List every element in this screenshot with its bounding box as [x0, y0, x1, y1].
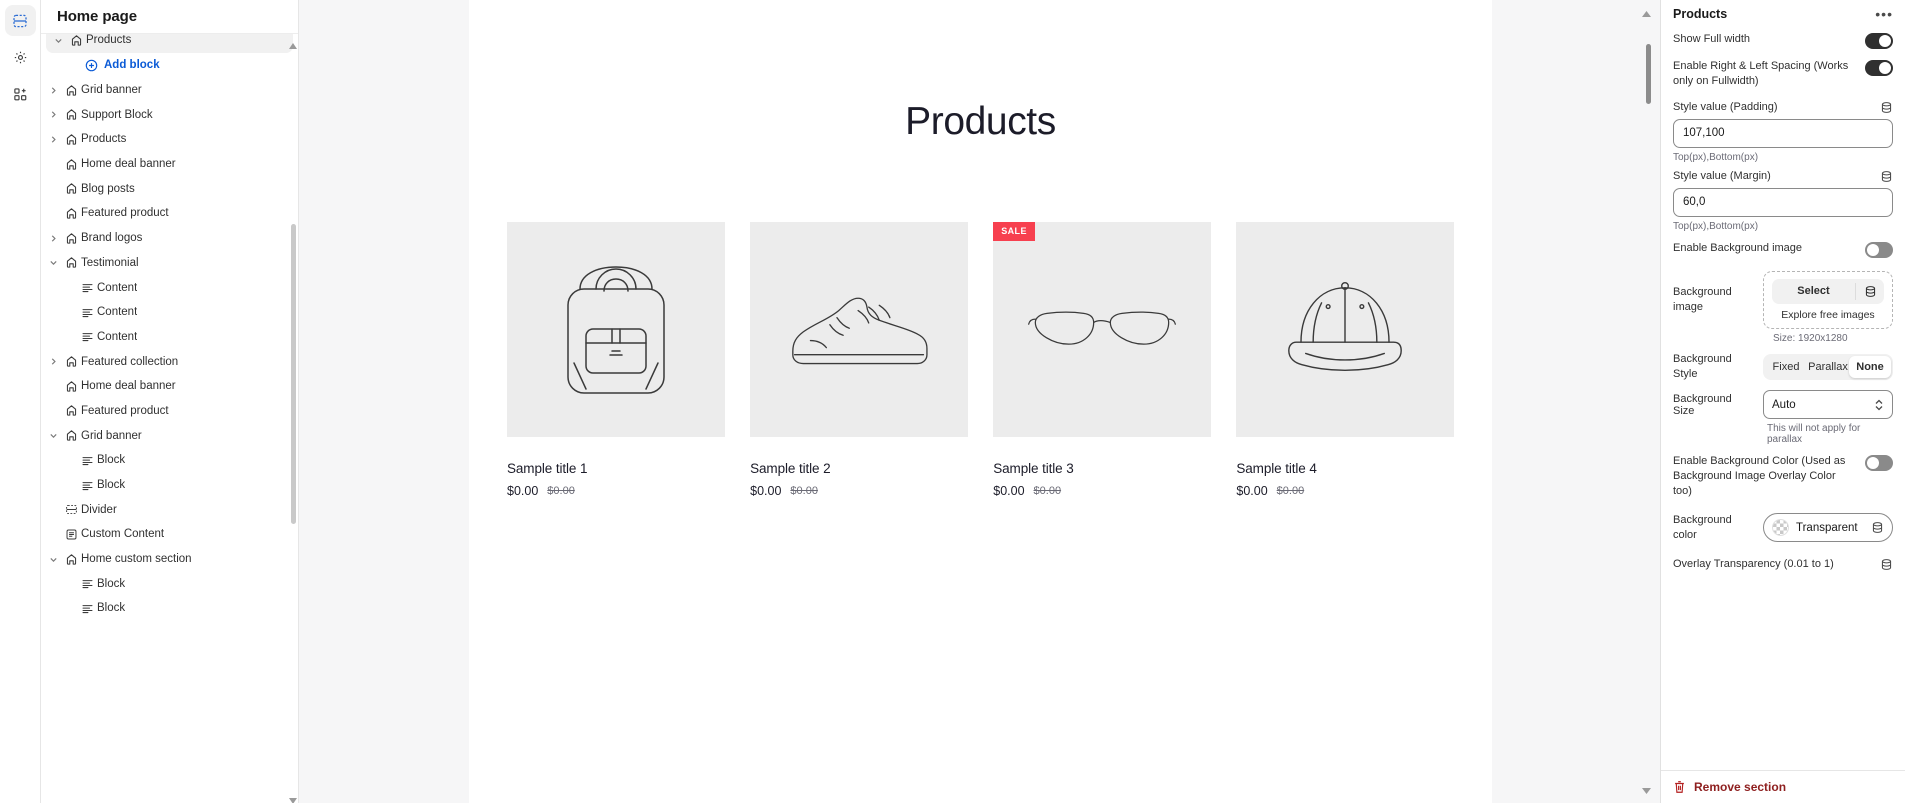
dynamic-source-icon[interactable]: [1880, 101, 1893, 114]
background-size-value: Auto: [1772, 399, 1874, 411]
margin-input-value: 60,0: [1683, 196, 1705, 208]
background-size-helper-text: This will not apply for parallax: [1661, 419, 1905, 445]
section-home-icon: [61, 133, 81, 146]
chevron-down-icon[interactable]: [45, 258, 61, 267]
product-price-row: $0.00$0.00: [1236, 484, 1454, 498]
tree-row-content[interactable]: Content: [41, 300, 298, 325]
tree-row-label: Blog posts: [81, 183, 135, 195]
padding-helper-text: Top(px),Bottom(px): [1661, 148, 1905, 163]
tree-row-block[interactable]: Block: [41, 596, 298, 621]
padding-input-value: 107,100: [1683, 127, 1725, 139]
tree-row-label: Grid banner: [81, 430, 142, 442]
product-price-row: $0.00$0.00: [750, 484, 968, 498]
background-size-select[interactable]: Auto: [1763, 390, 1893, 419]
tree-row-content[interactable]: Content: [41, 325, 298, 350]
show-full-width-label: Show Full width: [1673, 32, 1750, 47]
enable-background-color-toggle[interactable]: [1865, 455, 1893, 471]
tree-row-block[interactable]: Block: [41, 571, 298, 596]
tree-row-label: Divider: [81, 504, 117, 516]
background-size-label: Background Size: [1673, 393, 1755, 417]
page-title: Home page: [57, 8, 137, 25]
product-price: $0.00: [507, 484, 538, 498]
section-home-icon: [61, 232, 81, 245]
inspector-header: Products •••: [1661, 0, 1905, 27]
background-image-size-note: Size: 1920x1280: [1661, 329, 1905, 344]
margin-input[interactable]: 60,0: [1673, 188, 1893, 217]
product-card[interactable]: Sample title 1$0.00$0.00: [507, 222, 725, 498]
chevron-down-icon[interactable]: [50, 36, 66, 45]
product-title: Sample title 2: [750, 461, 968, 476]
chevron-down-icon[interactable]: [45, 431, 61, 440]
product-image-placeholder[interactable]: [507, 222, 725, 437]
product-card[interactable]: Sample title 4$0.00$0.00: [1236, 222, 1454, 498]
background-style-option-parallax[interactable]: Parallax: [1807, 356, 1849, 378]
dynamic-source-icon[interactable]: [1871, 521, 1884, 534]
tree-row-featured-collection[interactable]: Featured collection: [41, 349, 298, 374]
background-style-label: Background Style: [1673, 352, 1755, 382]
product-card[interactable]: SALESample title 3$0.00$0.00: [993, 222, 1211, 498]
tree-row-brand-logos[interactable]: Brand logos: [41, 226, 298, 251]
sections-icon-button[interactable]: [5, 5, 36, 36]
product-title: Sample title 1: [507, 461, 725, 476]
tree-row-label: Home deal banner: [81, 158, 176, 170]
tree-row-custom-content[interactable]: Custom Content: [41, 522, 298, 547]
block-text-icon: [77, 577, 97, 590]
section-home-icon: [61, 553, 81, 566]
enable-right-left-spacing-row: Enable Right & Left Spacing (Works only …: [1661, 54, 1905, 94]
preview-scroll-up-arrow[interactable]: [1642, 4, 1651, 22]
tree-row-grid-banner[interactable]: Grid banner: [41, 423, 298, 448]
section-home-icon: [61, 256, 81, 269]
glasses-icon: [1027, 300, 1177, 360]
product-image-placeholder[interactable]: [1236, 222, 1454, 437]
section-home-icon: [61, 404, 81, 417]
tree-row-label: Block: [97, 602, 125, 614]
dynamic-source-icon[interactable]: [1880, 170, 1893, 183]
product-title: Sample title 4: [1236, 461, 1454, 476]
section-home-icon: [61, 158, 81, 171]
chevron-right-icon[interactable]: [45, 86, 61, 95]
custom-content-icon: [61, 528, 81, 541]
sidebar-scroll-down-arrow[interactable]: [289, 791, 297, 799]
tree-row-featured-product[interactable]: Featured product: [41, 399, 298, 424]
toggle-knob: [1867, 244, 1879, 256]
background-style-option-fixed[interactable]: Fixed: [1765, 356, 1807, 378]
tree-row-label: Grid banner: [81, 84, 142, 96]
section-home-icon: [61, 108, 81, 121]
section-home-icon: [61, 84, 81, 97]
block-text-icon: [77, 454, 97, 467]
sidebar-scrollbar-thumb[interactable]: [291, 224, 296, 524]
inspector-title: Products: [1673, 7, 1727, 21]
tree-row-label: Featured product: [81, 405, 169, 417]
section-home-icon: [61, 380, 81, 393]
chevron-updown-icon: [1874, 398, 1884, 412]
padding-label-row: Style value (Padding): [1661, 94, 1905, 117]
tree-row-products[interactable]: Products: [46, 34, 293, 53]
section-home-icon: [61, 207, 81, 220]
tree-row-content[interactable]: Content: [41, 275, 298, 300]
enable-right-left-spacing-label: Enable Right & Left Spacing (Works only …: [1673, 59, 1851, 89]
product-card[interactable]: Sample title 2$0.00$0.00: [750, 222, 968, 498]
sidebar-header: Home page: [41, 0, 298, 34]
product-price: $0.00: [993, 484, 1024, 498]
tree-row-label: Products: [86, 34, 131, 46]
block-text-icon: [77, 602, 97, 615]
gear-icon: [13, 50, 28, 65]
section-home-icon: [61, 429, 81, 442]
product-title: Sample title 3: [993, 461, 1211, 476]
block-text-icon: [77, 330, 97, 343]
dynamic-source-icon[interactable]: [1880, 558, 1893, 571]
enable-background-image-toggle[interactable]: [1865, 242, 1893, 258]
show-full-width-toggle[interactable]: [1865, 33, 1893, 49]
tree-row-divider[interactable]: Divider: [41, 497, 298, 522]
trash-icon: [1673, 780, 1686, 794]
remove-section-button[interactable]: Remove section: [1661, 770, 1905, 803]
tree-row-products[interactable]: Products: [41, 127, 298, 152]
padding-label: Style value (Padding): [1673, 101, 1778, 113]
background-image-dropzone[interactable]: Select Explore free images: [1763, 271, 1893, 329]
enable-background-image-row: Enable Background image: [1661, 232, 1905, 263]
add-block-button[interactable]: Add block: [41, 53, 298, 78]
tree-row-label: Content: [97, 306, 137, 318]
preview-scrollbar-thumb[interactable]: [1646, 44, 1651, 104]
tree-row-block[interactable]: Block: [41, 473, 298, 498]
more-options-icon[interactable]: •••: [1875, 7, 1893, 21]
product-compare-at-price: $0.00: [547, 485, 575, 497]
product-image-placeholder[interactable]: [750, 222, 968, 437]
chevron-down-icon[interactable]: [45, 555, 61, 564]
inspector-scroll-region[interactable]: Products ••• Show Full width Enable Righ…: [1661, 0, 1905, 770]
chevron-right-icon[interactable]: [45, 110, 61, 119]
section-tree-sidebar: Home page ProductsAdd blockGrid bannerSu…: [41, 0, 299, 803]
preview-section-heading: Products: [469, 100, 1492, 144]
chevron-right-icon[interactable]: [45, 135, 61, 144]
margin-label-row: Style value (Margin): [1661, 163, 1905, 186]
preview-canvas-area: Products Sample title 1$0.00$0.00Sample …: [299, 0, 1660, 803]
sneaker-icon: [784, 282, 934, 378]
preview-scrollbar[interactable]: [1643, 0, 1655, 803]
tree-row-label: Block: [97, 454, 125, 466]
section-home-icon: [61, 355, 81, 368]
enable-right-left-spacing-toggle[interactable]: [1865, 60, 1893, 76]
background-color-value: Transparent: [1796, 522, 1864, 534]
apps-add-icon: [13, 87, 28, 102]
tree-row-label: Featured product: [81, 207, 169, 219]
toggle-knob: [1867, 457, 1879, 469]
plus-circle-icon: [85, 59, 98, 72]
preview-scroll-down-arrow[interactable]: [1642, 781, 1651, 799]
padding-input[interactable]: 107,100: [1673, 119, 1893, 148]
background-image-label: Background image: [1673, 285, 1755, 315]
block-text-icon: [77, 479, 97, 492]
margin-label: Style value (Margin): [1673, 170, 1771, 182]
background-size-row: Background Size Auto: [1661, 381, 1905, 419]
tree-row-label: Block: [97, 578, 125, 590]
section-home-icon: [66, 34, 86, 47]
tree-row-grid-banner[interactable]: Grid banner: [41, 78, 298, 103]
storefront-preview[interactable]: Products Sample title 1$0.00$0.00Sample …: [469, 0, 1492, 803]
tree-row-label: Home deal banner: [81, 380, 176, 392]
tree-row-label: Testimonial: [81, 257, 139, 269]
divider-icon: [61, 503, 81, 516]
background-style-segmented-control[interactable]: FixedParallaxNone: [1763, 354, 1893, 380]
block-text-icon: [77, 281, 97, 294]
product-compare-at-price: $0.00: [1034, 485, 1062, 497]
product-price: $0.00: [1236, 484, 1267, 498]
section-home-icon: [61, 182, 81, 195]
section-settings-inspector: Products ••• Show Full width Enable Righ…: [1660, 0, 1905, 803]
chevron-right-icon[interactable]: [45, 357, 61, 366]
sidebar-scroll-up-arrow[interactable]: [289, 36, 297, 44]
margin-helper-text: Top(px),Bottom(px): [1661, 217, 1905, 232]
tree-row-label: Featured collection: [81, 356, 178, 368]
toggle-knob: [1879, 35, 1891, 47]
product-compare-at-price: $0.00: [790, 485, 818, 497]
enable-background-color-label: Enable Background Color (Used as Backgro…: [1673, 454, 1851, 499]
tree-row-home-custom-section[interactable]: Home custom section: [41, 547, 298, 572]
chevron-right-icon[interactable]: [45, 234, 61, 243]
product-price-row: $0.00$0.00: [993, 484, 1211, 498]
tree-row-label: Support Block: [81, 109, 153, 121]
tree-row-support-block[interactable]: Support Block: [41, 102, 298, 127]
tree-row-label: Block: [97, 479, 125, 491]
block-text-icon: [77, 306, 97, 319]
add-block-label: Add block: [104, 59, 160, 71]
section-tree[interactable]: ProductsAdd blockGrid bannerSupport Bloc…: [41, 34, 298, 803]
toggle-knob: [1879, 62, 1891, 74]
show-full-width-row: Show Full width: [1661, 27, 1905, 54]
apps-add-icon-button[interactable]: [5, 79, 36, 110]
transparent-swatch-icon: [1772, 519, 1789, 536]
tree-row-blog-posts[interactable]: Blog posts: [41, 176, 298, 201]
background-image-row: Background image Select Explore free ima…: [1661, 263, 1905, 329]
tree-row-featured-product[interactable]: Featured product: [41, 201, 298, 226]
background-color-label: Background color: [1673, 513, 1755, 543]
tree-row-home-deal-banner[interactable]: Home deal banner: [41, 152, 298, 177]
tree-row-label: Products: [81, 133, 126, 145]
background-style-option-none[interactable]: None: [1849, 356, 1891, 378]
tree-row-testimonial[interactable]: Testimonial: [41, 251, 298, 276]
cap-icon: [1284, 271, 1406, 389]
background-color-row: Background color Transparent: [1661, 504, 1905, 543]
product-grid: Sample title 1$0.00$0.00Sample title 2$0…: [469, 222, 1492, 498]
tree-row-block[interactable]: Block: [41, 448, 298, 473]
backpack-icon: [552, 255, 680, 405]
tree-row-label: Content: [97, 331, 137, 343]
sections-icon: [12, 13, 28, 29]
enable-background-image-label: Enable Background image: [1673, 241, 1802, 256]
explore-free-images-link[interactable]: Explore free images: [1781, 309, 1874, 321]
background-color-picker[interactable]: Transparent: [1763, 513, 1893, 542]
tree-row-label: Home custom section: [81, 553, 192, 565]
select-image-label: Select: [1772, 285, 1855, 297]
tree-row-home-deal-banner[interactable]: Home deal banner: [41, 374, 298, 399]
product-image-placeholder[interactable]: SALE: [993, 222, 1211, 437]
tree-row-label: Brand logos: [81, 232, 142, 244]
tree-row-label: Content: [97, 282, 137, 294]
dynamic-source-icon[interactable]: [1856, 285, 1884, 298]
tree-row-label: Custom Content: [81, 528, 164, 540]
enable-background-color-row: Enable Background Color (Used as Backgro…: [1661, 445, 1905, 504]
overlay-transparency-label: Overlay Transparency (0.01 to 1): [1673, 558, 1834, 570]
sale-badge: SALE: [993, 222, 1035, 241]
product-price-row: $0.00$0.00: [507, 484, 725, 498]
background-style-row: Background Style FixedParallaxNone: [1661, 344, 1905, 382]
select-image-button[interactable]: Select: [1772, 279, 1884, 304]
overlay-transparency-row: Overlay Transparency (0.01 to 1): [1661, 543, 1905, 574]
theme-editor-window: Home page ProductsAdd blockGrid bannerSu…: [0, 0, 1905, 803]
settings-icon-button[interactable]: [5, 42, 36, 73]
left-icon-rail: [0, 0, 41, 803]
product-compare-at-price: $0.00: [1277, 485, 1305, 497]
product-price: $0.00: [750, 484, 781, 498]
remove-section-label: Remove section: [1694, 780, 1786, 794]
